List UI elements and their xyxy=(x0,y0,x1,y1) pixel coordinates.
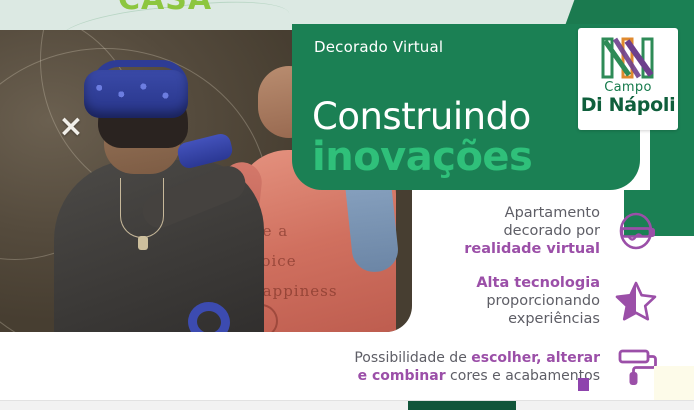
site-logo-text[interactable]: CASA xyxy=(118,0,212,17)
half-star-icon xyxy=(614,278,660,324)
feature-text-plain: proporcionando xyxy=(486,293,600,309)
feature-text: Possibilidade de escolher, alterar e com… xyxy=(354,349,600,385)
feature-text-plain: Apartamento xyxy=(505,205,600,221)
feature-text-plain: experiências xyxy=(508,311,600,327)
feature-text-highlight: realidade virtual xyxy=(464,241,600,257)
headline-line-1: Construindo xyxy=(312,98,531,136)
logo-text-campo: Campo xyxy=(578,81,678,95)
close-icon[interactable]: × xyxy=(56,112,86,142)
feature-item-colors-finishes: Possibilidade de escolher, alterar e com… xyxy=(300,344,660,390)
feature-text: Alta tecnologia proporcionando experiênc… xyxy=(476,274,600,328)
bottom-cream-block xyxy=(654,366,694,400)
logo-text-di-napoli: Di Nápoli xyxy=(578,95,678,116)
feature-text: Apartamento decorado por realidade virtu… xyxy=(464,204,600,258)
vr-headset-sensor-dots xyxy=(90,80,182,106)
feature-item-virtual-reality: Apartamento decorado por realidade virtu… xyxy=(300,204,660,258)
feature-text-highlight: Alta tecnologia xyxy=(476,275,600,291)
feature-text-highlight: e combinar xyxy=(358,368,446,384)
campo-di-napoli-n-mark-icon xyxy=(599,35,657,81)
bottom-green-bar xyxy=(408,401,516,410)
vr-headset-icon xyxy=(614,208,660,254)
feature-text-plain: Possibilidade de xyxy=(354,350,471,366)
headline-line-2: inovações xyxy=(312,136,532,178)
bottom-purple-marker xyxy=(578,378,589,391)
brand-logo-card[interactable]: Campo Di Nápoli xyxy=(578,28,678,130)
necklace-pendant xyxy=(138,236,148,250)
promo-banner-page: CASA be a voice happiness × xyxy=(0,0,694,410)
feature-list: Apartamento decorado por realidade virtu… xyxy=(300,204,660,406)
page-bottom-strip xyxy=(0,400,694,410)
feature-text-plain: cores e acabamentos xyxy=(446,368,600,384)
feature-text-highlight: escolher, alterar xyxy=(471,350,600,366)
headline-eyebrow: Decorado Virtual xyxy=(314,38,443,56)
necklace-chain xyxy=(120,178,164,238)
feature-item-high-technology: Alta tecnologia proporcionando experiênc… xyxy=(300,274,660,328)
feature-text-plain: decorado por xyxy=(503,223,600,239)
